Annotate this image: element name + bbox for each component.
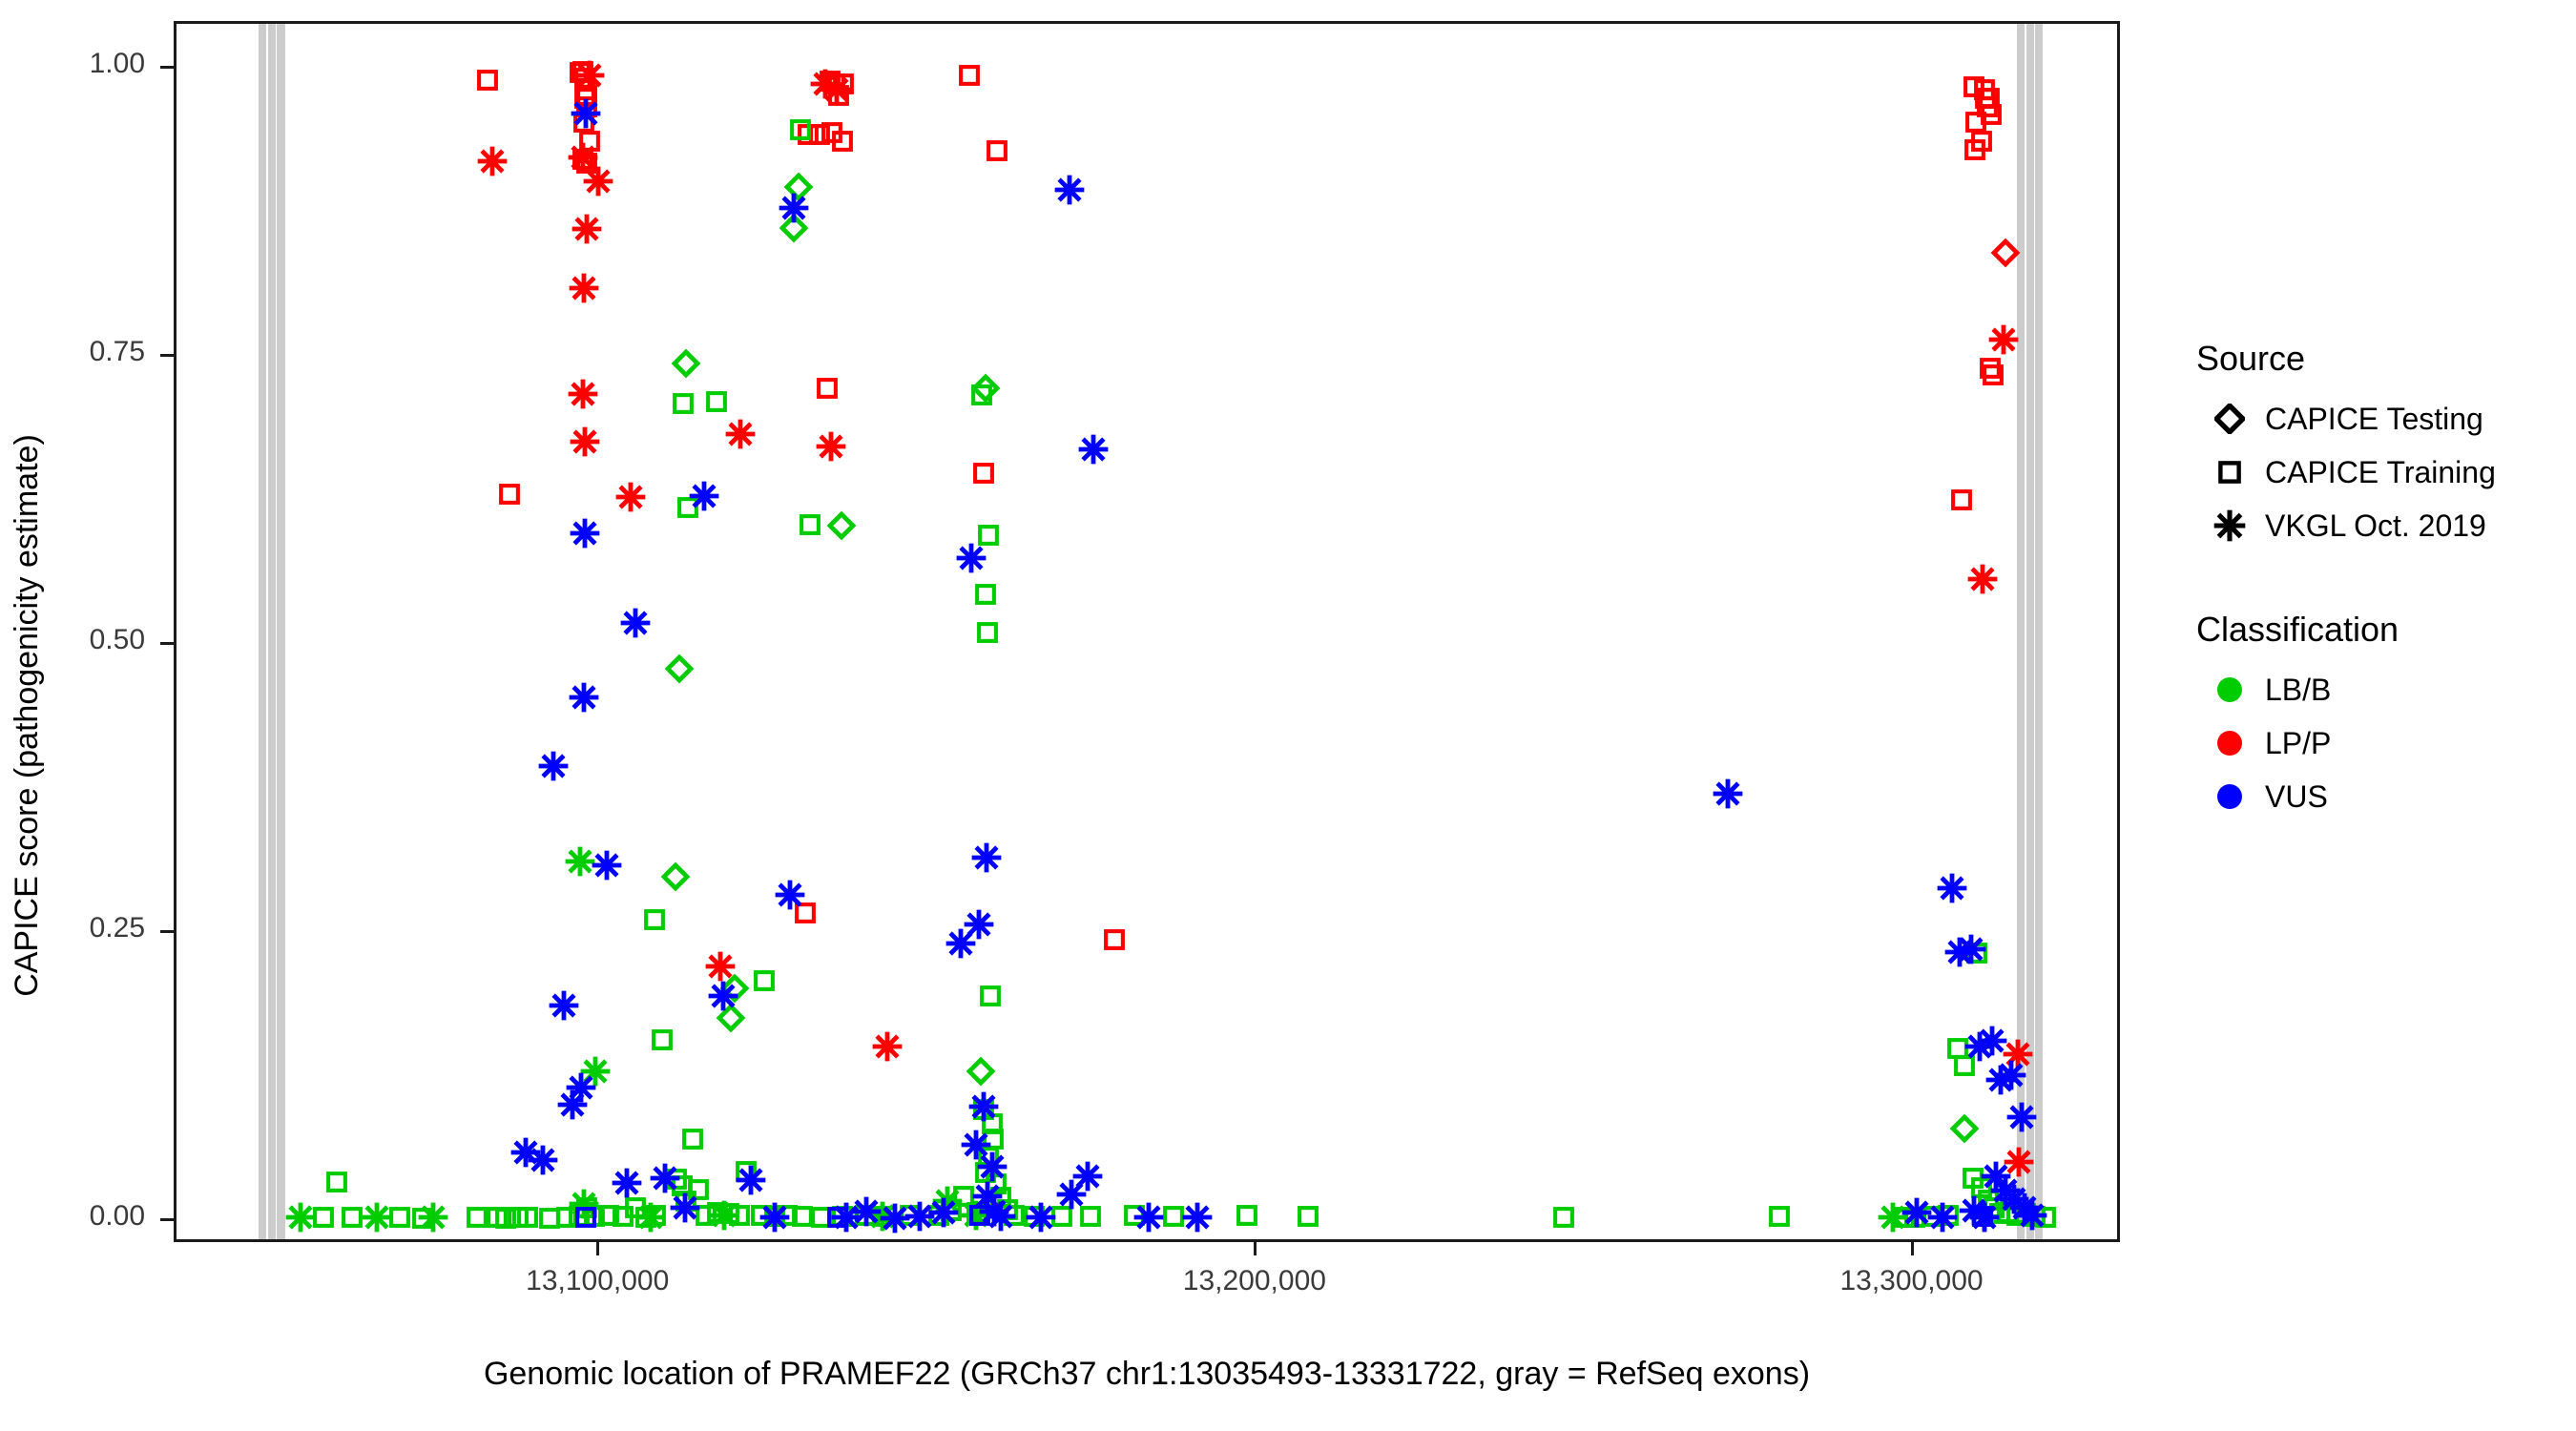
data-point-asterisk — [538, 751, 569, 781]
data-point-asterisk — [977, 1151, 1008, 1182]
data-point-square — [705, 390, 728, 413]
x-tick-label: 13,100,000 — [526, 1265, 669, 1297]
data-point-square — [789, 118, 812, 141]
x-tick-label: 13,300,000 — [1839, 1265, 1983, 1297]
legend-label: CAPICE Training — [2265, 455, 2496, 490]
data-point-asterisk — [779, 193, 809, 223]
legend-label: CAPICE Testing — [2265, 402, 2483, 437]
data-point-square — [958, 64, 981, 87]
data-point-square — [979, 985, 1002, 1007]
data-point-asterisk — [1078, 434, 1109, 465]
data-point-asterisk — [615, 482, 646, 512]
legend-group-classification: Classification LB/BLP/PVUS — [2194, 610, 2557, 823]
data-point-asterisk — [1026, 1202, 1056, 1233]
data-point-asterisk — [635, 1202, 666, 1233]
x-tick-mark — [596, 1242, 599, 1255]
data-point-asterisk — [528, 1145, 558, 1175]
data-point-asterisk — [477, 146, 508, 176]
color-dot-icon — [2194, 731, 2265, 756]
diamond-icon — [2194, 404, 2265, 434]
y-tick-label: 0.75 — [0, 336, 145, 368]
y-tick-mark — [160, 354, 174, 357]
data-point-asterisk — [956, 543, 987, 573]
data-point-asterisk — [872, 1031, 903, 1062]
data-point-asterisk — [418, 1202, 448, 1233]
legend-group-source: Source CAPICE TestingCAPICE TrainingVKGL… — [2194, 339, 2557, 552]
legend-label: VKGL Oct. 2019 — [2265, 508, 2486, 544]
data-point-square — [753, 969, 776, 992]
data-point-asterisk — [725, 419, 756, 449]
legend-items-source: CAPICE TestingCAPICE TrainingVKGL Oct. 2… — [2194, 392, 2557, 552]
data-point-square — [1103, 928, 1126, 951]
data-point-asterisk — [285, 1202, 316, 1233]
chart-root: CAPICE score (pathogenicity estimate) 1.… — [0, 0, 2576, 1431]
data-point-square — [976, 621, 999, 644]
data-point-asterisk — [708, 981, 738, 1011]
data-point-asterisk — [574, 60, 605, 91]
y-tick-mark — [160, 930, 174, 933]
data-point-asterisk — [2017, 1200, 2047, 1231]
data-point-asterisk — [945, 928, 976, 959]
data-point-diamond — [1992, 239, 2019, 266]
data-point-square — [498, 483, 521, 506]
legend-items-classification: LB/BLP/PVUS — [2194, 663, 2557, 823]
data-point-square — [972, 462, 995, 485]
data-point-diamond — [972, 375, 999, 402]
y-tick-mark — [160, 1218, 174, 1221]
y-tick-label: 1.00 — [0, 48, 145, 80]
data-point-asterisk — [1182, 1202, 1213, 1233]
data-point-square — [799, 513, 821, 536]
data-point-asterisk — [816, 431, 846, 462]
y-tick-mark — [160, 66, 174, 69]
data-point-asterisk — [928, 1197, 959, 1228]
data-point-square — [672, 392, 695, 415]
data-point-asterisk — [821, 74, 852, 105]
data-point-square — [1297, 1205, 1319, 1228]
data-point-diamond — [662, 863, 689, 890]
data-point-asterisk — [1977, 1026, 2007, 1056]
data-point-square — [1970, 130, 1993, 153]
data-point-diamond — [666, 655, 693, 682]
data-point-square — [325, 1171, 348, 1193]
data-point-asterisk — [1056, 1179, 1087, 1210]
legend-title-classification: Classification — [2196, 610, 2557, 650]
legend: Source CAPICE TestingCAPICE TrainingVKGL… — [2194, 339, 2557, 881]
scatter-points-layer — [177, 24, 2117, 1239]
data-point-asterisk — [670, 1192, 700, 1223]
legend-item-source-0[interactable]: CAPICE Testing — [2194, 392, 2557, 446]
data-point-square — [1950, 488, 1973, 511]
y-tick-label: 0.50 — [0, 624, 145, 656]
legend-title-source: Source — [2196, 339, 2557, 379]
asterisk-icon — [2194, 509, 2265, 542]
data-point-asterisk — [565, 846, 595, 877]
data-point-asterisk — [612, 1168, 642, 1198]
data-point-asterisk — [1988, 324, 2019, 355]
data-point-asterisk — [571, 214, 602, 244]
data-point-asterisk — [1969, 1202, 2000, 1233]
y-tick-label: 0.00 — [0, 1200, 145, 1233]
x-axis-title: Genomic location of PRAMEF22 (GRCh37 chr… — [174, 1350, 2120, 1398]
plot-panel — [174, 21, 2120, 1242]
data-point-asterisk — [569, 682, 599, 713]
legend-item-classification-2[interactable]: VUS — [2194, 770, 2557, 823]
legend-item-classification-0[interactable]: LB/B — [2194, 663, 2557, 716]
data-point-asterisk — [2006, 1102, 2037, 1132]
data-point-asterisk — [1996, 1060, 2026, 1090]
data-point-square — [1552, 1206, 1575, 1229]
data-point-square — [831, 130, 854, 153]
data-point-square — [681, 1128, 704, 1151]
data-point-asterisk — [570, 426, 600, 457]
data-point-asterisk — [1133, 1202, 1164, 1233]
data-point-square — [516, 1206, 539, 1229]
y-tick-mark — [160, 642, 174, 645]
data-point-diamond — [673, 350, 699, 377]
x-tick-label: 13,200,000 — [1183, 1265, 1326, 1297]
legend-label: VUS — [2265, 779, 2328, 815]
data-point-asterisk — [362, 1202, 392, 1233]
data-point-diamond — [1951, 1115, 1978, 1142]
data-point-asterisk — [1054, 175, 1085, 205]
x-tick-mark — [1254, 1242, 1257, 1255]
data-point-asterisk — [759, 1202, 790, 1233]
data-point-square — [816, 377, 839, 400]
data-point-square — [1768, 1205, 1791, 1228]
data-point-square — [1162, 1205, 1185, 1228]
data-point-asterisk — [1713, 778, 1743, 809]
data-point-asterisk — [689, 481, 719, 511]
data-point-square — [974, 583, 997, 606]
data-point-asterisk — [549, 990, 579, 1021]
data-point-square — [1974, 87, 1997, 110]
data-point-asterisk — [570, 518, 600, 549]
data-point-asterisk — [986, 1201, 1016, 1232]
data-point-square — [643, 908, 666, 931]
legend-item-source-2[interactable]: VKGL Oct. 2019 — [2194, 499, 2557, 552]
color-dot-icon — [2194, 677, 2265, 702]
data-point-asterisk — [968, 1091, 999, 1122]
data-point-asterisk — [1937, 873, 1967, 903]
data-point-asterisk — [736, 1165, 766, 1195]
data-point-square — [476, 69, 499, 92]
square-icon — [2194, 460, 2265, 485]
y-tick-label: 0.25 — [0, 912, 145, 944]
legend-item-classification-1[interactable]: LP/P — [2194, 716, 2557, 770]
data-point-asterisk — [571, 98, 601, 129]
data-point-square — [341, 1206, 364, 1229]
x-tick-mark — [1911, 1242, 1914, 1255]
data-point-asterisk — [971, 842, 1002, 873]
data-point-asterisk — [851, 1196, 882, 1227]
data-point-asterisk — [566, 1072, 596, 1103]
data-point-square — [986, 139, 1008, 162]
data-point-asterisk — [583, 166, 613, 197]
data-point-square — [1236, 1204, 1258, 1227]
data-point-asterisk — [620, 608, 651, 638]
data-point-asterisk — [1967, 564, 1998, 594]
data-point-asterisk — [775, 880, 805, 910]
data-point-square — [574, 1206, 597, 1229]
data-point-square — [1982, 363, 2005, 386]
color-dot-icon — [2194, 784, 2265, 809]
data-point-asterisk — [709, 1200, 739, 1231]
legend-label: LB/B — [2265, 673, 2331, 708]
data-point-asterisk — [650, 1163, 680, 1193]
data-point-asterisk — [569, 273, 599, 303]
data-point-asterisk — [592, 850, 622, 881]
legend-label: LP/P — [2265, 726, 2331, 761]
data-point-diamond — [967, 1058, 994, 1085]
data-point-square — [651, 1028, 674, 1051]
data-point-asterisk — [1956, 934, 1986, 964]
data-point-asterisk — [1927, 1202, 1958, 1233]
legend-item-source-1[interactable]: CAPICE Training — [2194, 446, 2557, 499]
data-point-asterisk — [568, 379, 598, 409]
data-point-diamond — [828, 512, 855, 539]
